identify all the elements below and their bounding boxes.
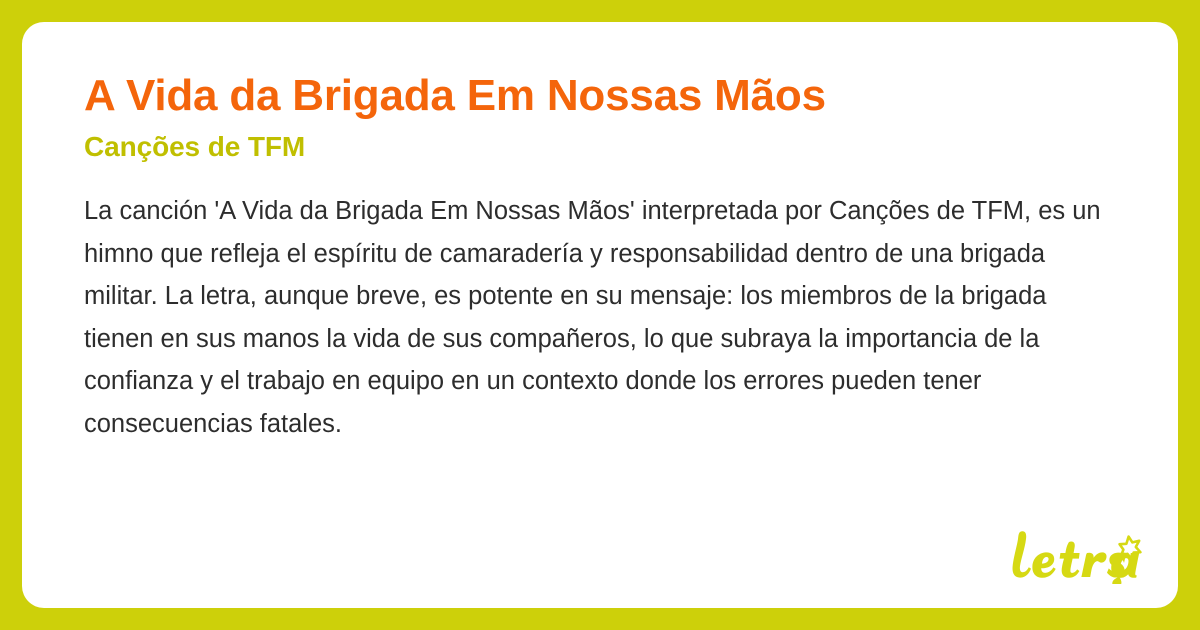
card-content: A Vida da Brigada Em Nossas Mãos Canções… bbox=[84, 70, 1138, 445]
letras-wordmark-glyphs bbox=[1013, 531, 1140, 584]
share-card: A Vida da Brigada Em Nossas Mãos Canções… bbox=[22, 22, 1178, 608]
song-title: A Vida da Brigada Em Nossas Mãos bbox=[84, 70, 1138, 122]
song-description: La canción 'A Vida da Brigada Em Nossas … bbox=[84, 190, 1119, 445]
artist-name: Canções de TFM bbox=[84, 130, 1138, 164]
letras-logo[interactable] bbox=[1008, 528, 1143, 584]
